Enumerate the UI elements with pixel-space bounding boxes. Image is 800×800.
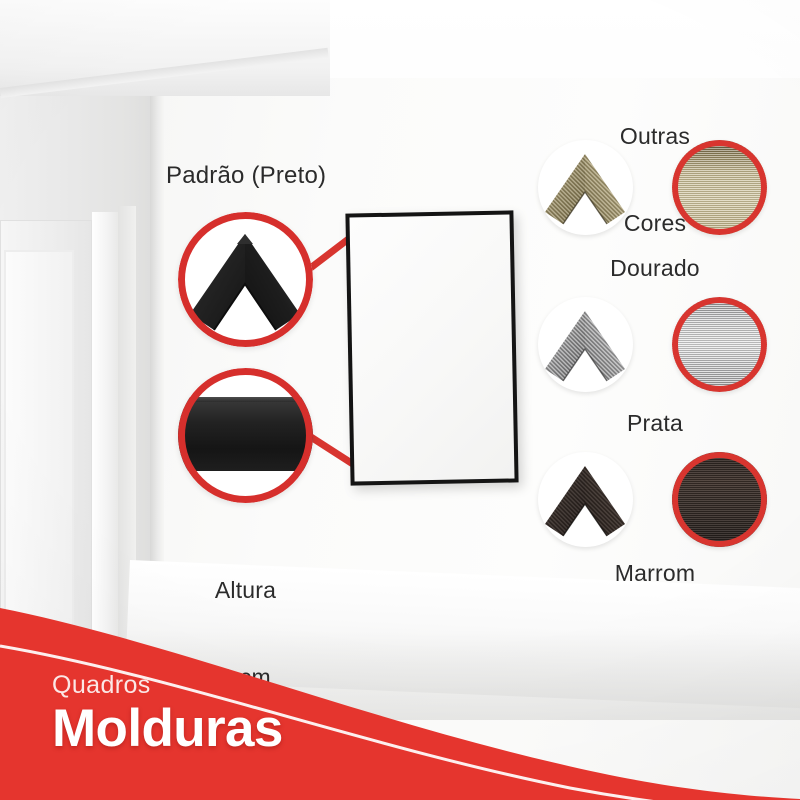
swatch-padrao-preto[interactable] xyxy=(178,212,313,347)
label-altura: Altura 3 cm xyxy=(178,518,313,750)
swatch-altura[interactable] xyxy=(178,368,313,503)
swatch-prata-fill[interactable] xyxy=(672,297,767,392)
label-padrao-preto: Padrão (Preto) xyxy=(166,162,326,190)
label-prata: Prata xyxy=(560,410,750,437)
swatch-prata-corner[interactable] xyxy=(538,297,633,392)
label-dourado: Dourado xyxy=(560,255,750,282)
label-altura-line2: 3 cm xyxy=(178,663,313,692)
swatch-marrom-corner[interactable] xyxy=(538,452,633,547)
black-frame-corner-icon xyxy=(178,212,313,347)
label-marrom: Marrom xyxy=(560,560,750,587)
swatch-ring-prata-fill xyxy=(672,297,767,392)
brown-frame-corner-icon xyxy=(538,452,633,547)
label-altura-line1: Altura xyxy=(178,576,313,605)
gold-frame-corner-icon xyxy=(538,140,633,235)
silver-frame-corner-icon xyxy=(538,297,633,392)
swatch-ring-marrom-fill xyxy=(672,452,767,547)
swatch-dourado-corner[interactable] xyxy=(538,140,633,235)
frame-mat xyxy=(349,214,514,481)
frame-height-profile-icon xyxy=(178,397,313,471)
infographic-canvas: Padrão (Preto) Altura 3 c xyxy=(0,0,800,800)
swatch-ring-dourado-fill xyxy=(672,140,767,235)
swatch-marrom-fill[interactable] xyxy=(672,452,767,547)
picture-frame[interactable] xyxy=(345,210,518,485)
swatch-dourado-fill[interactable] xyxy=(672,140,767,235)
